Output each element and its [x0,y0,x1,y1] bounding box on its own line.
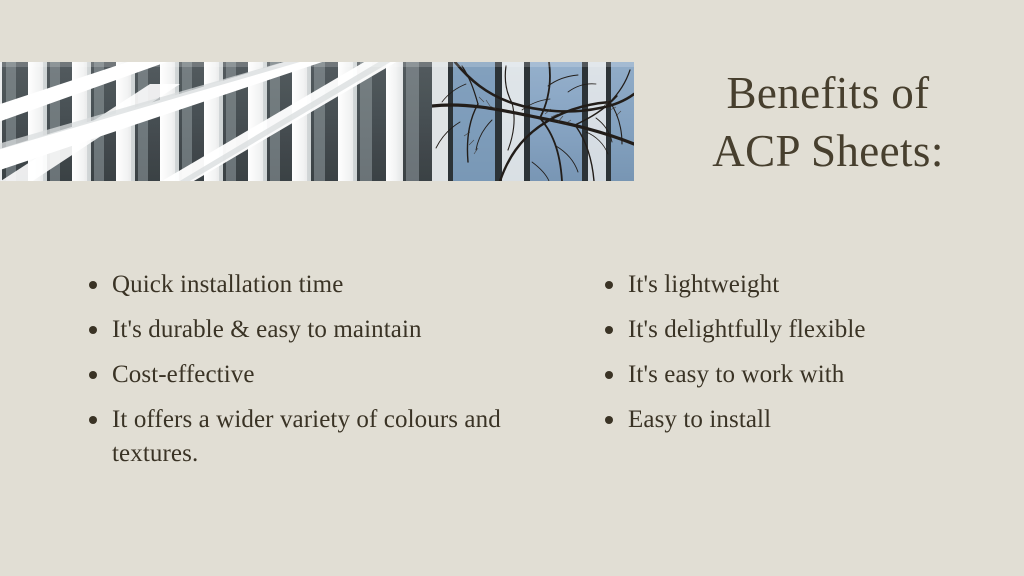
list-item-label: Cost-effective [112,358,554,392]
bullet-dot-icon [89,326,97,334]
list-item-label: It's lightweight [628,268,1000,302]
list-item: It's lightweight [600,268,1000,302]
facade-left [0,62,434,181]
bullet-dot-icon [605,326,613,334]
bullet-dot-icon [89,416,97,424]
list-item: It offers a wider variety of colours and… [84,403,554,471]
list-item: It's durable & easy to maintain [84,313,554,347]
page-title: Benefits of ACP Sheets: [648,64,1008,180]
list-item-label: It's easy to work with [628,358,1000,392]
list-item-label: Easy to install [628,403,1000,437]
title-line-2: ACP Sheets: [648,122,1008,180]
list-item: Easy to install [600,403,1000,437]
benefits-list-left: Quick installation time It's durable & e… [84,268,554,482]
list-item: It's delightfully flexible [600,313,1000,347]
list-item: Cost-effective [84,358,554,392]
title-line-1: Benefits of [648,64,1008,122]
bullet-dot-icon [605,416,613,424]
slide-canvas: Benefits of ACP Sheets: Quick installati… [0,0,1024,576]
list-item: It's easy to work with [600,358,1000,392]
bullet-dot-icon [605,281,613,289]
benefits-lists: Quick installation time It's durable & e… [0,268,1024,518]
facade-right [432,62,634,181]
list-item-label: Quick installation time [112,268,554,302]
bullet-dot-icon [89,371,97,379]
list-item-label: It's durable & easy to maintain [112,313,554,347]
bullet-dot-icon [89,281,97,289]
benefits-list-right: It's lightweight It's delightfully flexi… [600,268,1000,448]
list-item-label: It offers a wider variety of colours and… [112,403,554,471]
bullet-dot-icon [605,371,613,379]
list-item: Quick installation time [84,268,554,302]
hero-image [0,62,634,181]
list-item-label: It's delightfully flexible [628,313,1000,347]
